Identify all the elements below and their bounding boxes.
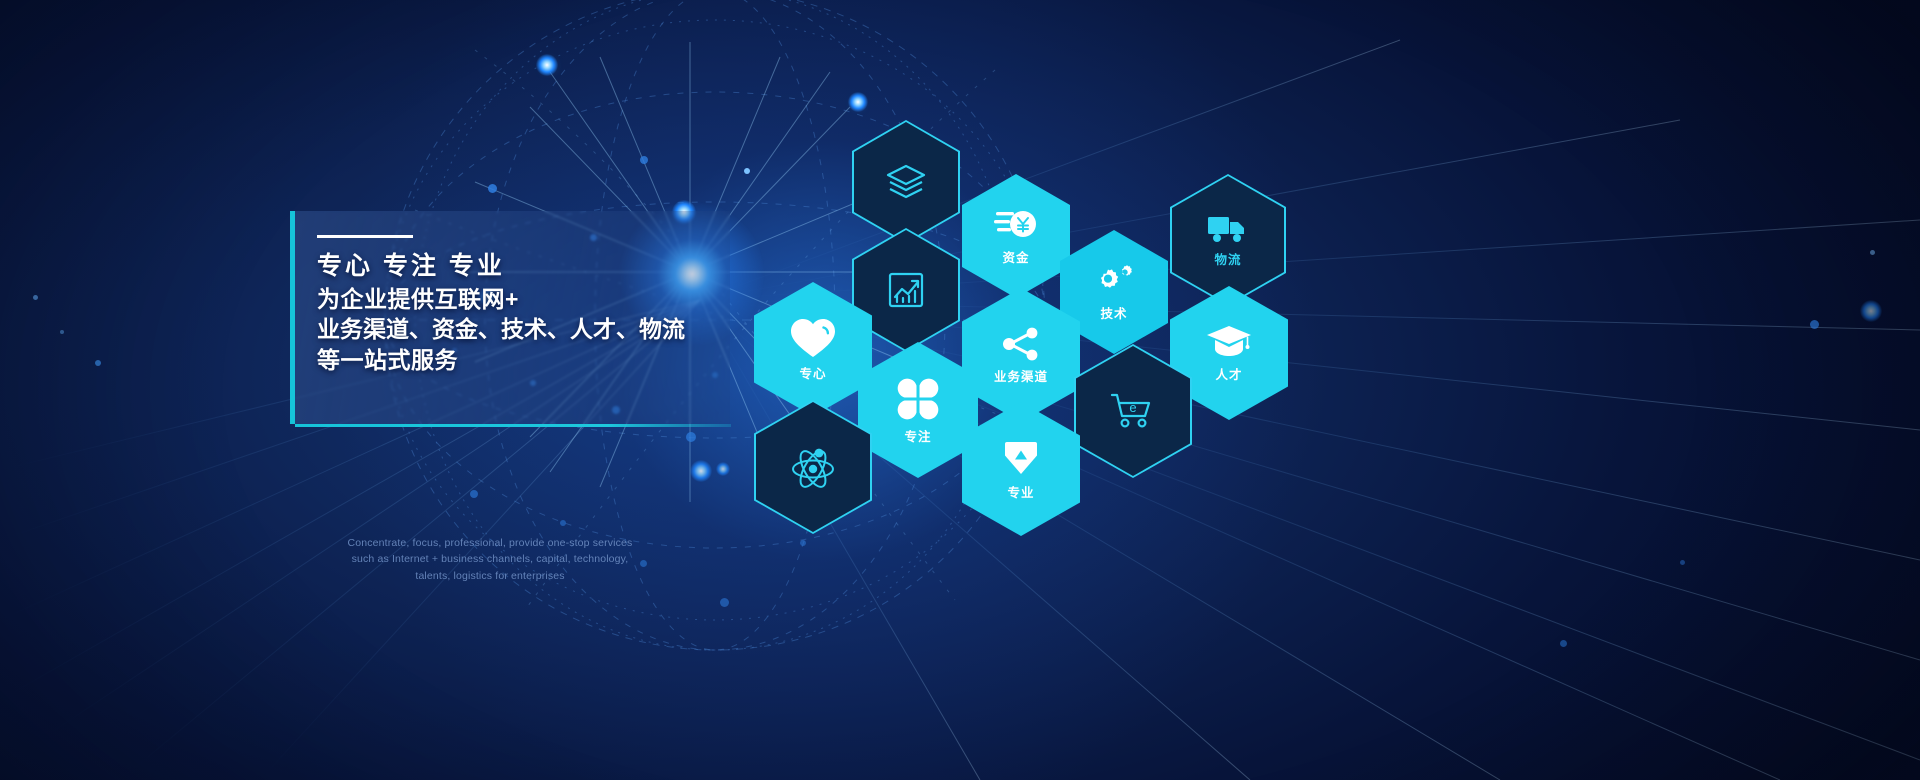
four-petal-icon (895, 376, 941, 422)
hex-label-capital: 资金 (1002, 247, 1029, 266)
hexagon-grid: 资金 技术 (740, 100, 1300, 530)
headline-line-2: 为企业提供互联网+ (317, 284, 730, 315)
subtitle-english: Concentrate, focus, professional, provid… (345, 535, 635, 584)
headline-line-1: 专心 专注 专业 (317, 250, 730, 284)
hex-atom[interactable] (754, 400, 872, 534)
headline-line-3: 业务渠道、资金、技术、人才、物流 (317, 314, 730, 345)
diamond-icon (1001, 438, 1041, 478)
hex-label-focus: 专心 (799, 363, 826, 382)
hex-capital[interactable]: 资金 (962, 174, 1070, 298)
gears-icon (1093, 263, 1135, 299)
growth-chart-icon (885, 269, 927, 311)
headline-panel: 专心 专注 专业 为企业提供互联网+ 业务渠道、资金、技术、人才、物流 等一站式… (290, 211, 730, 424)
hex-ecommerce[interactable]: e (1074, 344, 1192, 478)
atom-icon (790, 445, 836, 489)
hex-pro[interactable]: 专业 (962, 402, 1080, 536)
shopping-cart-e-icon: e (1109, 391, 1157, 431)
hex-label-channels: 业务渠道 (994, 366, 1048, 385)
yen-money-icon (994, 207, 1038, 243)
layers-icon (884, 162, 928, 202)
hex-label-talent: 人才 (1215, 364, 1242, 383)
headline-line-4: 等一站式服务 (317, 345, 730, 376)
hex-label-logistics: 物流 (1214, 249, 1241, 268)
hex-focus[interactable]: 专心 (754, 282, 872, 416)
graduation-cap-icon (1206, 324, 1252, 360)
svg-text:e: e (1129, 400, 1136, 415)
hex-label-pro: 专业 (1007, 482, 1034, 501)
headline-rule (317, 235, 413, 238)
banner-background: 专心 专注 专业 为企业提供互联网+ 业务渠道、资金、技术、人才、物流 等一站式… (0, 0, 1920, 780)
share-nodes-icon (1000, 326, 1042, 362)
heart-icon (789, 317, 837, 359)
hex-label-tech: 技术 (1100, 303, 1127, 322)
truck-icon (1206, 213, 1250, 245)
hex-attention[interactable]: 专注 (858, 342, 978, 478)
hex-label-attention: 专注 (904, 426, 931, 445)
hex-layers[interactable] (852, 120, 960, 244)
